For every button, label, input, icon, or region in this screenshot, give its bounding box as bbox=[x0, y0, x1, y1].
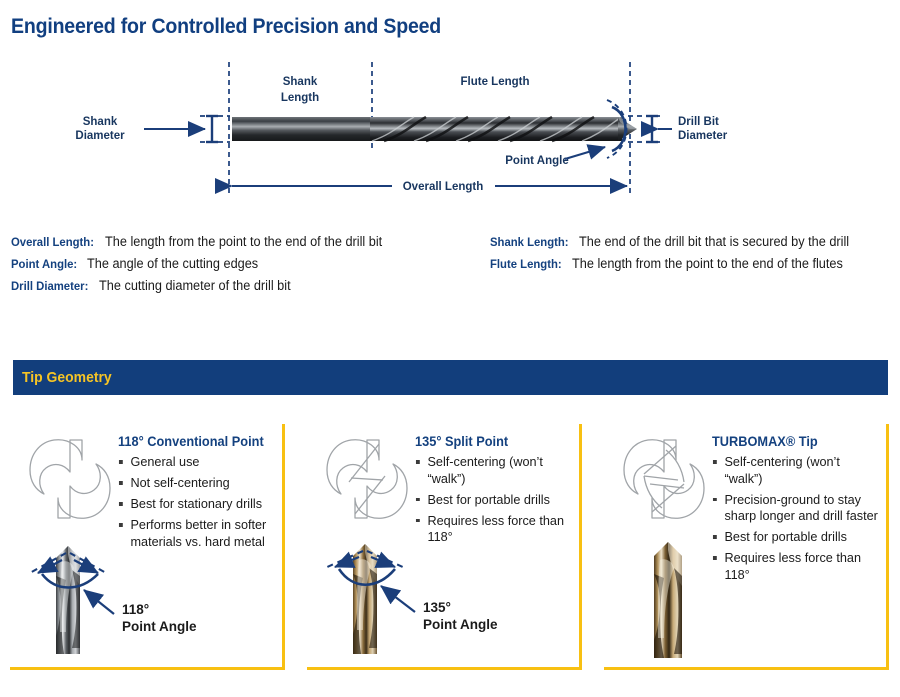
shank-length-label-line2: Length bbox=[281, 92, 319, 104]
drill-bit-photo-with-angle-annotation: 135° Point Angle bbox=[319, 536, 581, 664]
drill-bit-photo-with-angle-annotation: 118° Point Angle bbox=[22, 536, 284, 664]
panel-heading: 118° Conventional Point bbox=[118, 434, 264, 449]
definition-term: Flute Length: bbox=[490, 253, 562, 275]
drill-bit-photo bbox=[353, 544, 377, 654]
drill-bit-diameter-label-line1: Drill Bit bbox=[678, 116, 719, 128]
panel-heading: TURBOMAX® Tip bbox=[712, 434, 818, 449]
definition-term: Shank Length: bbox=[490, 231, 569, 253]
shank-length-label-line1: Shank bbox=[283, 76, 318, 88]
shank-diameter-callout: Shank Diameter bbox=[75, 116, 230, 142]
overall-length-label: Overall Length bbox=[403, 181, 484, 193]
definition-text: The end of the drill bit that is secured… bbox=[579, 231, 849, 253]
definition-row: Drill Diameter: The cutting diameter of … bbox=[11, 275, 397, 297]
list-item: Best for portable drills bbox=[415, 492, 576, 509]
angle-value: 118° bbox=[122, 602, 149, 617]
angle-caption: Point Angle bbox=[122, 619, 197, 634]
tip-geometry-section-title: Tip Geometry bbox=[22, 369, 112, 386]
flute-length-label: Flute Length bbox=[461, 76, 530, 88]
overall-length-callout: Overall Length bbox=[232, 181, 627, 193]
definition-text: The length from the point to the end of … bbox=[105, 231, 382, 253]
definition-term: Overall Length: bbox=[11, 231, 94, 253]
shank-diameter-label-line2: Diameter bbox=[75, 130, 125, 142]
flute-length-callout: Flute Length bbox=[461, 76, 530, 88]
point-angle-label: Point Angle bbox=[505, 155, 568, 167]
shank-diameter-label-line1: Shank bbox=[83, 116, 118, 128]
drill-tip-cross-section-icon bbox=[321, 430, 413, 528]
definitions-left-column: Overall Length: The length from the poin… bbox=[11, 231, 397, 297]
page-title: Engineered for Controlled Precision and … bbox=[11, 15, 441, 39]
infographic-page: Engineered for Controlled Precision and … bbox=[0, 0, 900, 697]
list-item: Not self-centering bbox=[118, 475, 279, 492]
definition-text: The angle of the cutting edges bbox=[87, 253, 258, 275]
shank-length-callout: Shank Length bbox=[281, 76, 319, 104]
definition-text: The length from the point to the end of … bbox=[572, 253, 843, 275]
definition-row: Shank Length: The end of the drill bit t… bbox=[490, 231, 863, 253]
drill-tip-cross-section-icon bbox=[618, 430, 710, 528]
definitions-right-column: Shank Length: The end of the drill bit t… bbox=[490, 231, 863, 275]
point-angle-annotation: 135° Point Angle bbox=[325, 551, 498, 632]
drill-bit-photo-turbomax bbox=[654, 542, 682, 658]
drill-bit-illustration bbox=[232, 117, 637, 141]
tip-geometry-section-bar bbox=[13, 360, 888, 395]
drill-bit-photo bbox=[616, 536, 888, 664]
tip-geometry-panel-conventional: 118° Conventional Point General use Not … bbox=[10, 424, 285, 670]
list-item: Self-centering (won’t “walk”) bbox=[712, 454, 881, 487]
definition-term: Point Angle: bbox=[11, 253, 77, 275]
drill-bit-diameter-callout: Drill Bit Diameter bbox=[628, 116, 728, 142]
drill-bit-diameter-label-line2: Diameter bbox=[678, 130, 728, 142]
panel-heading: 135° Split Point bbox=[415, 434, 508, 449]
tip-geometry-panel-turbomax: TURBOMAX® Tip Self-centering (won’t “wal… bbox=[604, 424, 889, 670]
angle-caption: Point Angle bbox=[423, 617, 498, 632]
definition-term: Drill Diameter: bbox=[11, 275, 88, 297]
list-item: Self-centering (won’t “walk”) bbox=[415, 454, 576, 487]
list-item: Best for stationary drills bbox=[118, 496, 279, 513]
point-angle-annotation: 118° Point Angle bbox=[28, 553, 197, 634]
tip-geometry-panel-split-point: 135° Split Point Self-centering (won’t “… bbox=[307, 424, 582, 670]
definition-row: Flute Length: The length from the point … bbox=[490, 253, 863, 275]
drill-bit-anatomy-diagram: Shank Diameter Shank Length Fl bbox=[0, 52, 900, 207]
definition-row: Overall Length: The length from the poin… bbox=[11, 231, 397, 253]
drill-tip-cross-section-icon bbox=[24, 430, 116, 528]
list-item: Precision-ground to stay sharp longer an… bbox=[712, 492, 881, 525]
definition-text: The cutting diameter of the drill bit bbox=[99, 275, 291, 297]
list-item: General use bbox=[118, 454, 279, 471]
angle-value: 135° bbox=[423, 600, 451, 615]
definition-row: Point Angle: The angle of the cutting ed… bbox=[11, 253, 397, 275]
